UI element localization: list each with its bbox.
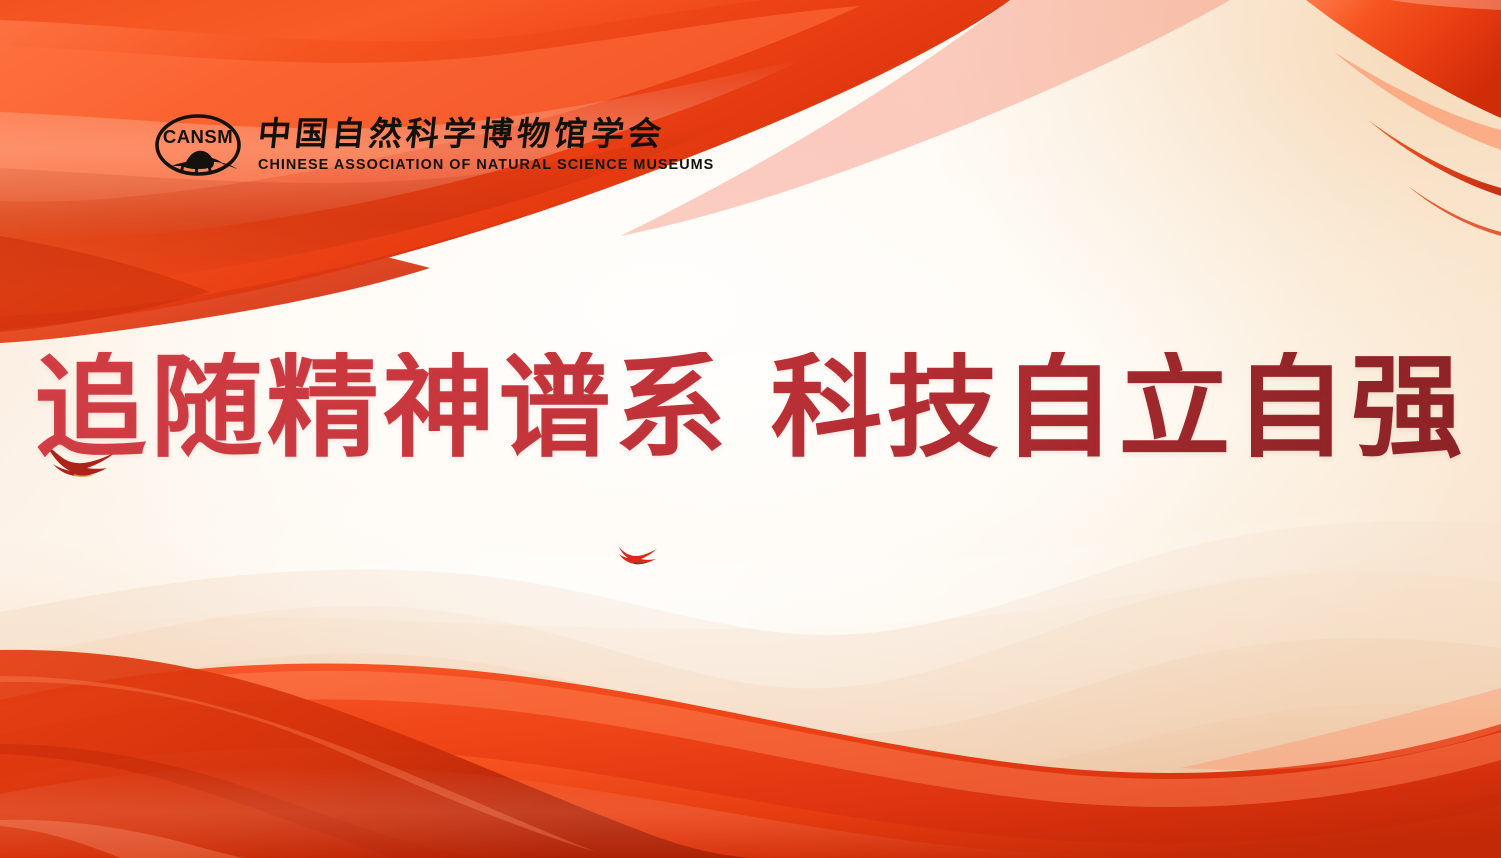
logo-text-block: 中国自然科学博物馆学会 CHINESE ASSOCIATION OF NATUR… xyxy=(258,117,714,173)
headline-part-1: 追随精神谱系 xyxy=(35,342,731,473)
organization-name-cn: 中国自然科学博物馆学会 xyxy=(256,117,716,152)
organization-name-en: CHINESE ASSOCIATION OF NATURAL SCIENCE M… xyxy=(258,157,714,173)
page-title: 追随精神谱系科技自立自强 xyxy=(0,352,1501,464)
organization-logo: CANSM 中国自然科学博物馆学会 CHINESE ASSOCIATION OF… xyxy=(152,108,714,182)
headline-part-2: 科技自立自强 xyxy=(771,342,1467,473)
svg-text:CANSM: CANSM xyxy=(163,126,233,147)
poster-canvas: CANSM 中国自然科学博物馆学会 CHINESE ASSOCIATION OF… xyxy=(0,0,1501,858)
cansm-dinosaur-oval-icon: CANSM xyxy=(152,108,244,182)
flying-bird-icon xyxy=(612,537,658,569)
